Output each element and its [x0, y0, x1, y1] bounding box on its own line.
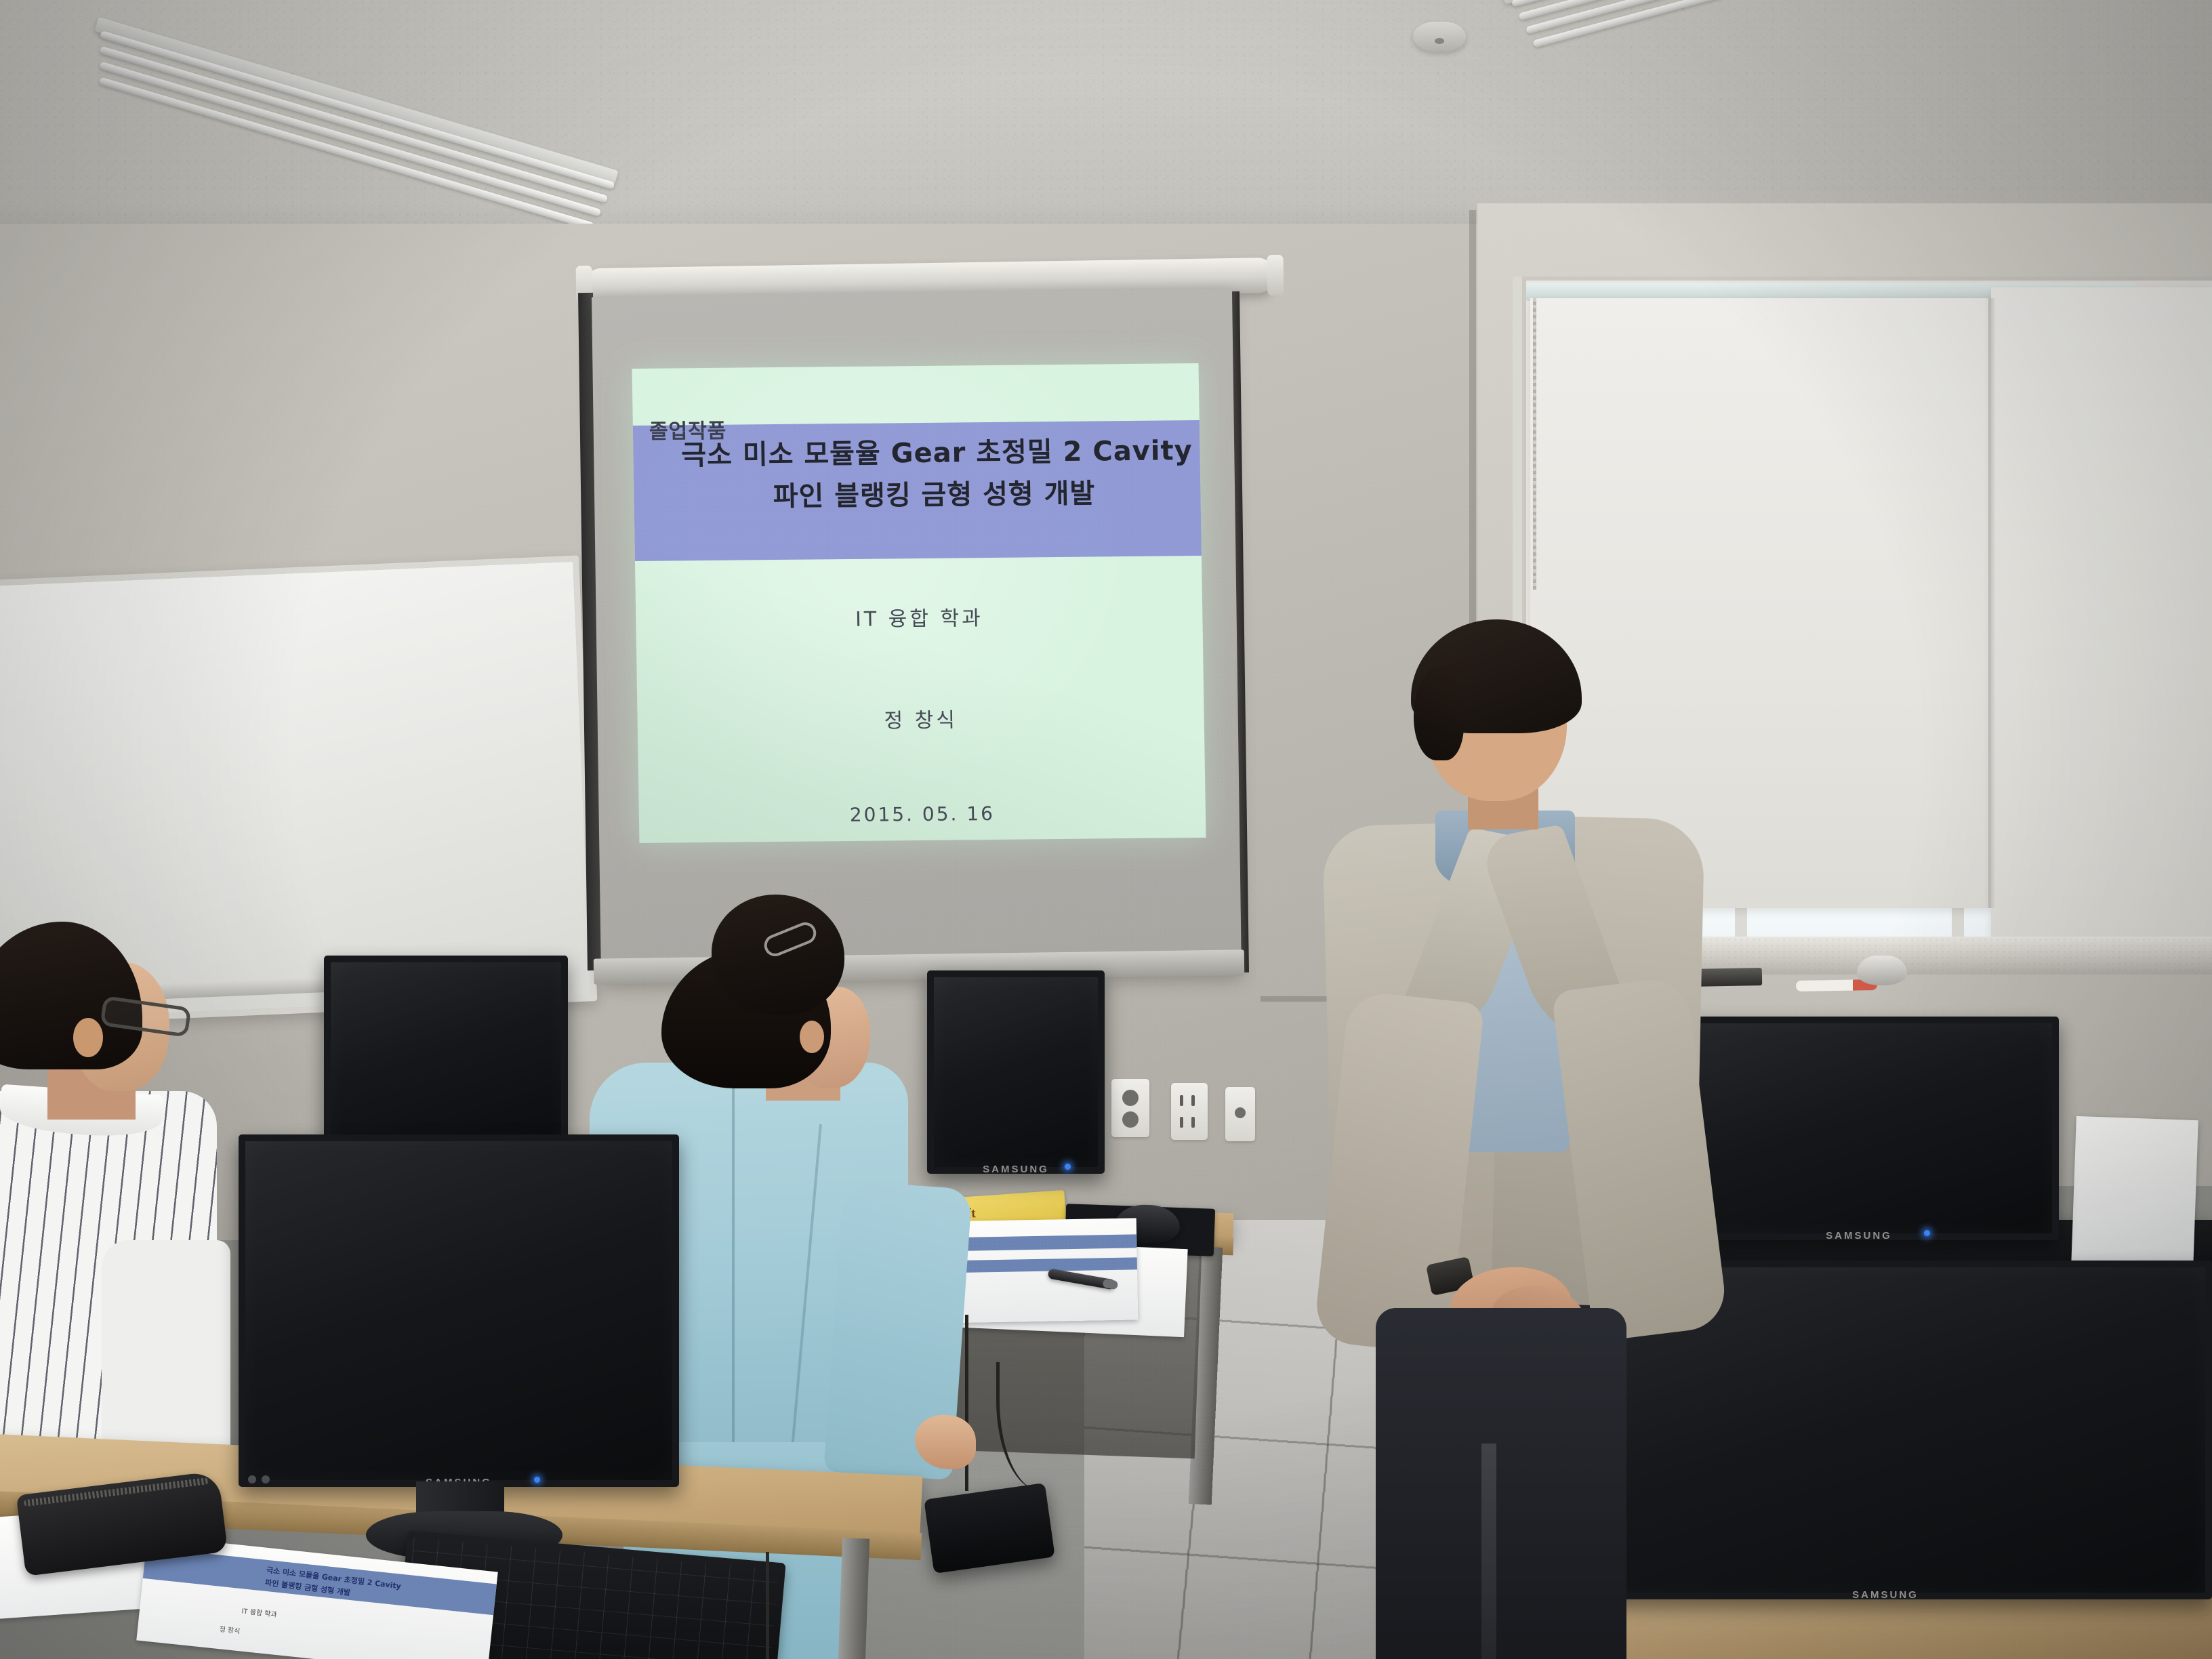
- presenter: [1349, 630, 1728, 1659]
- blind-pull-chain[interactable]: [1533, 298, 1536, 590]
- slide-title-line-2: 파인 블랭킹 금형 성형 개발: [634, 472, 1201, 519]
- monitor-brand-label: SAMSUNG: [1826, 1230, 1892, 1242]
- shirt-sleeve: [102, 1240, 230, 1464]
- ear: [73, 1018, 103, 1057]
- slide-date: 2015. 05. 16: [639, 800, 1206, 828]
- slide-title-line-1: 극소 미소 모듈율 Gear 초정밀 2 Cavity: [633, 430, 1200, 477]
- seated-attendee-man: [0, 922, 258, 1477]
- projected-slide: 졸업작품 극소 미소 모듈율 Gear 초정밀 2 Cavity 파인 블랭킹 …: [632, 363, 1206, 843]
- handout-department: IT 융합 학과: [241, 1605, 278, 1618]
- blind-seam: [1988, 298, 1995, 908]
- smoke-detector: [1413, 22, 1466, 52]
- slide-title: 극소 미소 모듈율 Gear 초정밀 2 Cavity 파인 블랭킹 금형 성형…: [633, 430, 1201, 519]
- monitor-back-left[interactable]: SAMSUNG: [324, 956, 568, 1159]
- desk-leg: [838, 1538, 869, 1659]
- monitor-front-left[interactable]: SAMSUNG: [239, 1134, 679, 1487]
- hair-side: [1414, 665, 1464, 760]
- slide-department: IT 융합 학과: [636, 599, 1203, 634]
- paper-stack: [2071, 1116, 2198, 1269]
- monitor-brand-label: SAMSUNG: [1852, 1589, 1919, 1601]
- euro-power-outlet: [1111, 1079, 1149, 1137]
- sill-mouse: [1857, 956, 1907, 985]
- power-cable: [996, 1362, 1061, 1491]
- trouser-leg-gap: [1481, 1443, 1496, 1659]
- classroom-photo: 졸업작품 극소 미소 모듈율 Gear 초정밀 2 Cavity 파인 블랭킹 …: [0, 0, 2212, 1659]
- monitor-brand-label: SAMSUNG: [983, 1164, 1049, 1175]
- ear: [800, 1021, 824, 1053]
- window-blind[interactable]: [1991, 287, 2212, 938]
- trousers: [1376, 1308, 1626, 1659]
- slide-presenter-name: 정 창식: [637, 701, 1204, 736]
- wall-switch[interactable]: [1225, 1087, 1255, 1141]
- handout-presenter-name: 정 창식: [219, 1623, 241, 1635]
- power-outlet: [1171, 1083, 1208, 1140]
- hair: [0, 922, 142, 1069]
